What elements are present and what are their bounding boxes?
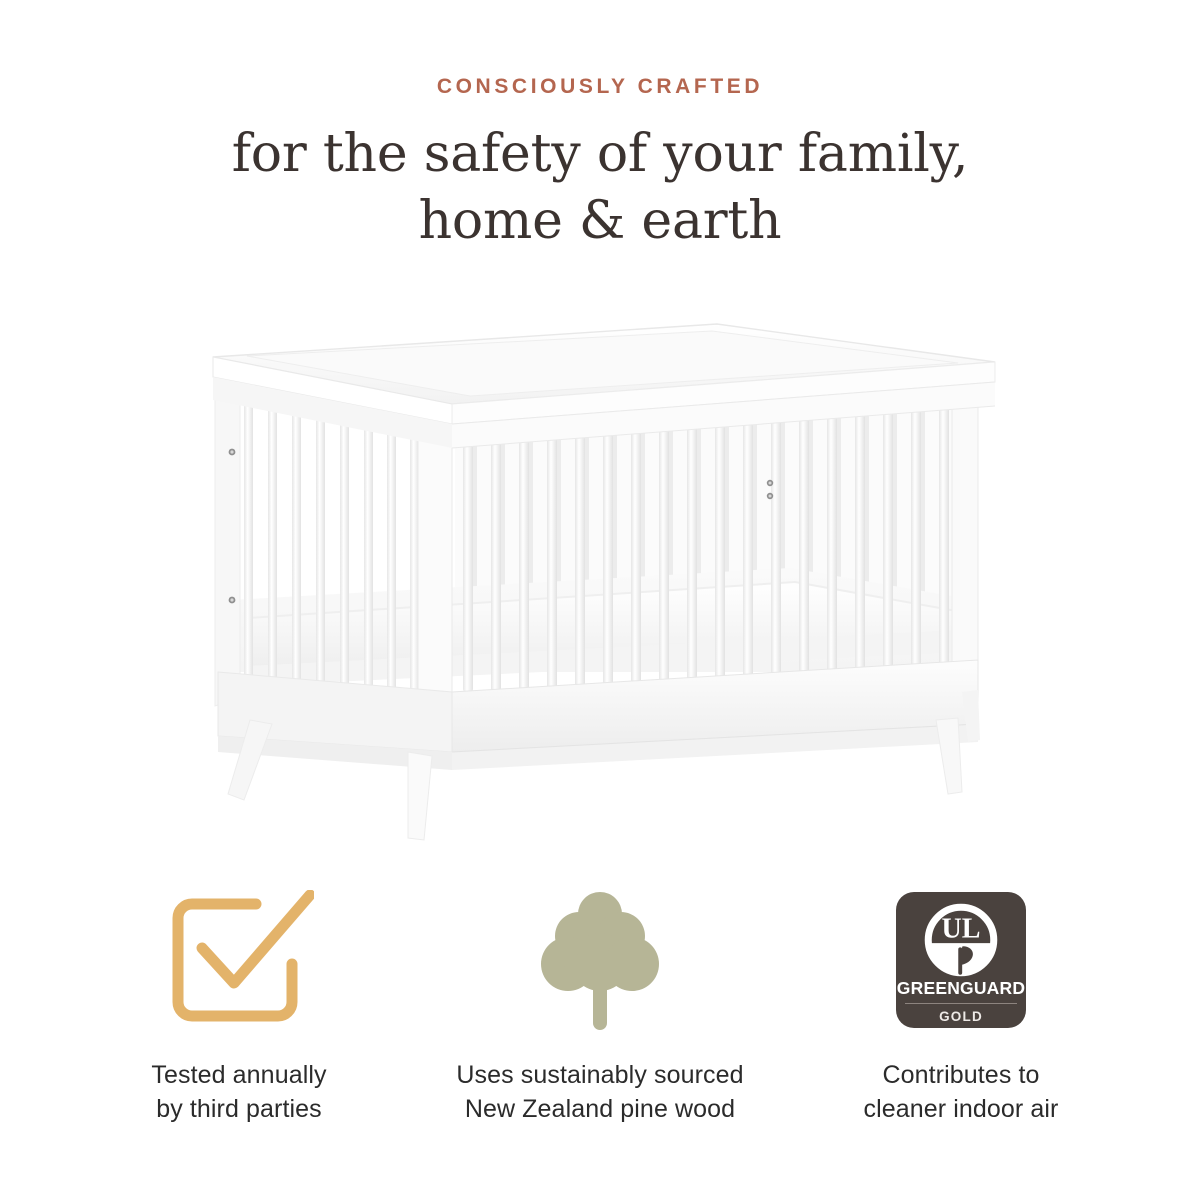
badge-caption-line-2: New Zealand pine wood [456,1092,743,1126]
page-title-line-1: for the safety of your family, [0,121,1200,188]
badge-caption-line-1: Tested annually [151,1058,326,1092]
feature-badges: Tested annually by third parties [0,880,1200,1126]
badge-caption-line-2: by third parties [151,1092,326,1126]
badge-sustainable-wood: Uses sustainably sourced New Zealand pin… [435,880,765,1126]
greenguard-gold-certification-icon: UL GREENGUARD GOLD [896,892,1026,1028]
badge-caption-line-2: cleaner indoor air [864,1092,1059,1126]
crib-right-end-panel [952,372,978,700]
badge-caption: Contributes to cleaner indoor air [864,1058,1059,1126]
badge-art [540,880,660,1040]
badge-art [164,880,314,1040]
ul-mark-icon: UL [922,901,1000,979]
badge-tested-annually: Tested annually by third parties [74,880,404,1126]
marketing-infographic-page: CONSCIOUSLY CRAFTED for the safety of yo… [0,0,1200,1200]
checkbox-check-icon [164,890,314,1030]
greenguard-level: GOLD [939,1010,983,1024]
page-title: for the safety of your family, home & ea… [0,121,1200,254]
badge-caption-line-1: Contributes to [864,1058,1059,1092]
product-image [0,300,1200,860]
badge-caption: Uses sustainably sourced New Zealand pin… [456,1058,743,1126]
tree-icon [540,888,660,1033]
greenguard-wordmark: GREENGUARD [897,980,1025,998]
ul-letters: UL [942,914,981,945]
page-title-line-2: home & earth [0,188,1200,255]
badge-art: UL GREENGUARD GOLD [896,880,1026,1040]
badge-caption-line-1: Uses sustainably sourced [456,1058,743,1092]
crib-illustration [0,300,1200,860]
header: CONSCIOUSLY CRAFTED for the safety of yo… [0,0,1200,254]
badge-caption: Tested annually by third parties [151,1058,326,1126]
badge-greenguard-gold: UL GREENGUARD GOLD Contributes to cleane… [796,880,1126,1126]
greenguard-divider [905,1003,1017,1005]
eyebrow-text: CONSCIOUSLY CRAFTED [0,74,1200,99]
